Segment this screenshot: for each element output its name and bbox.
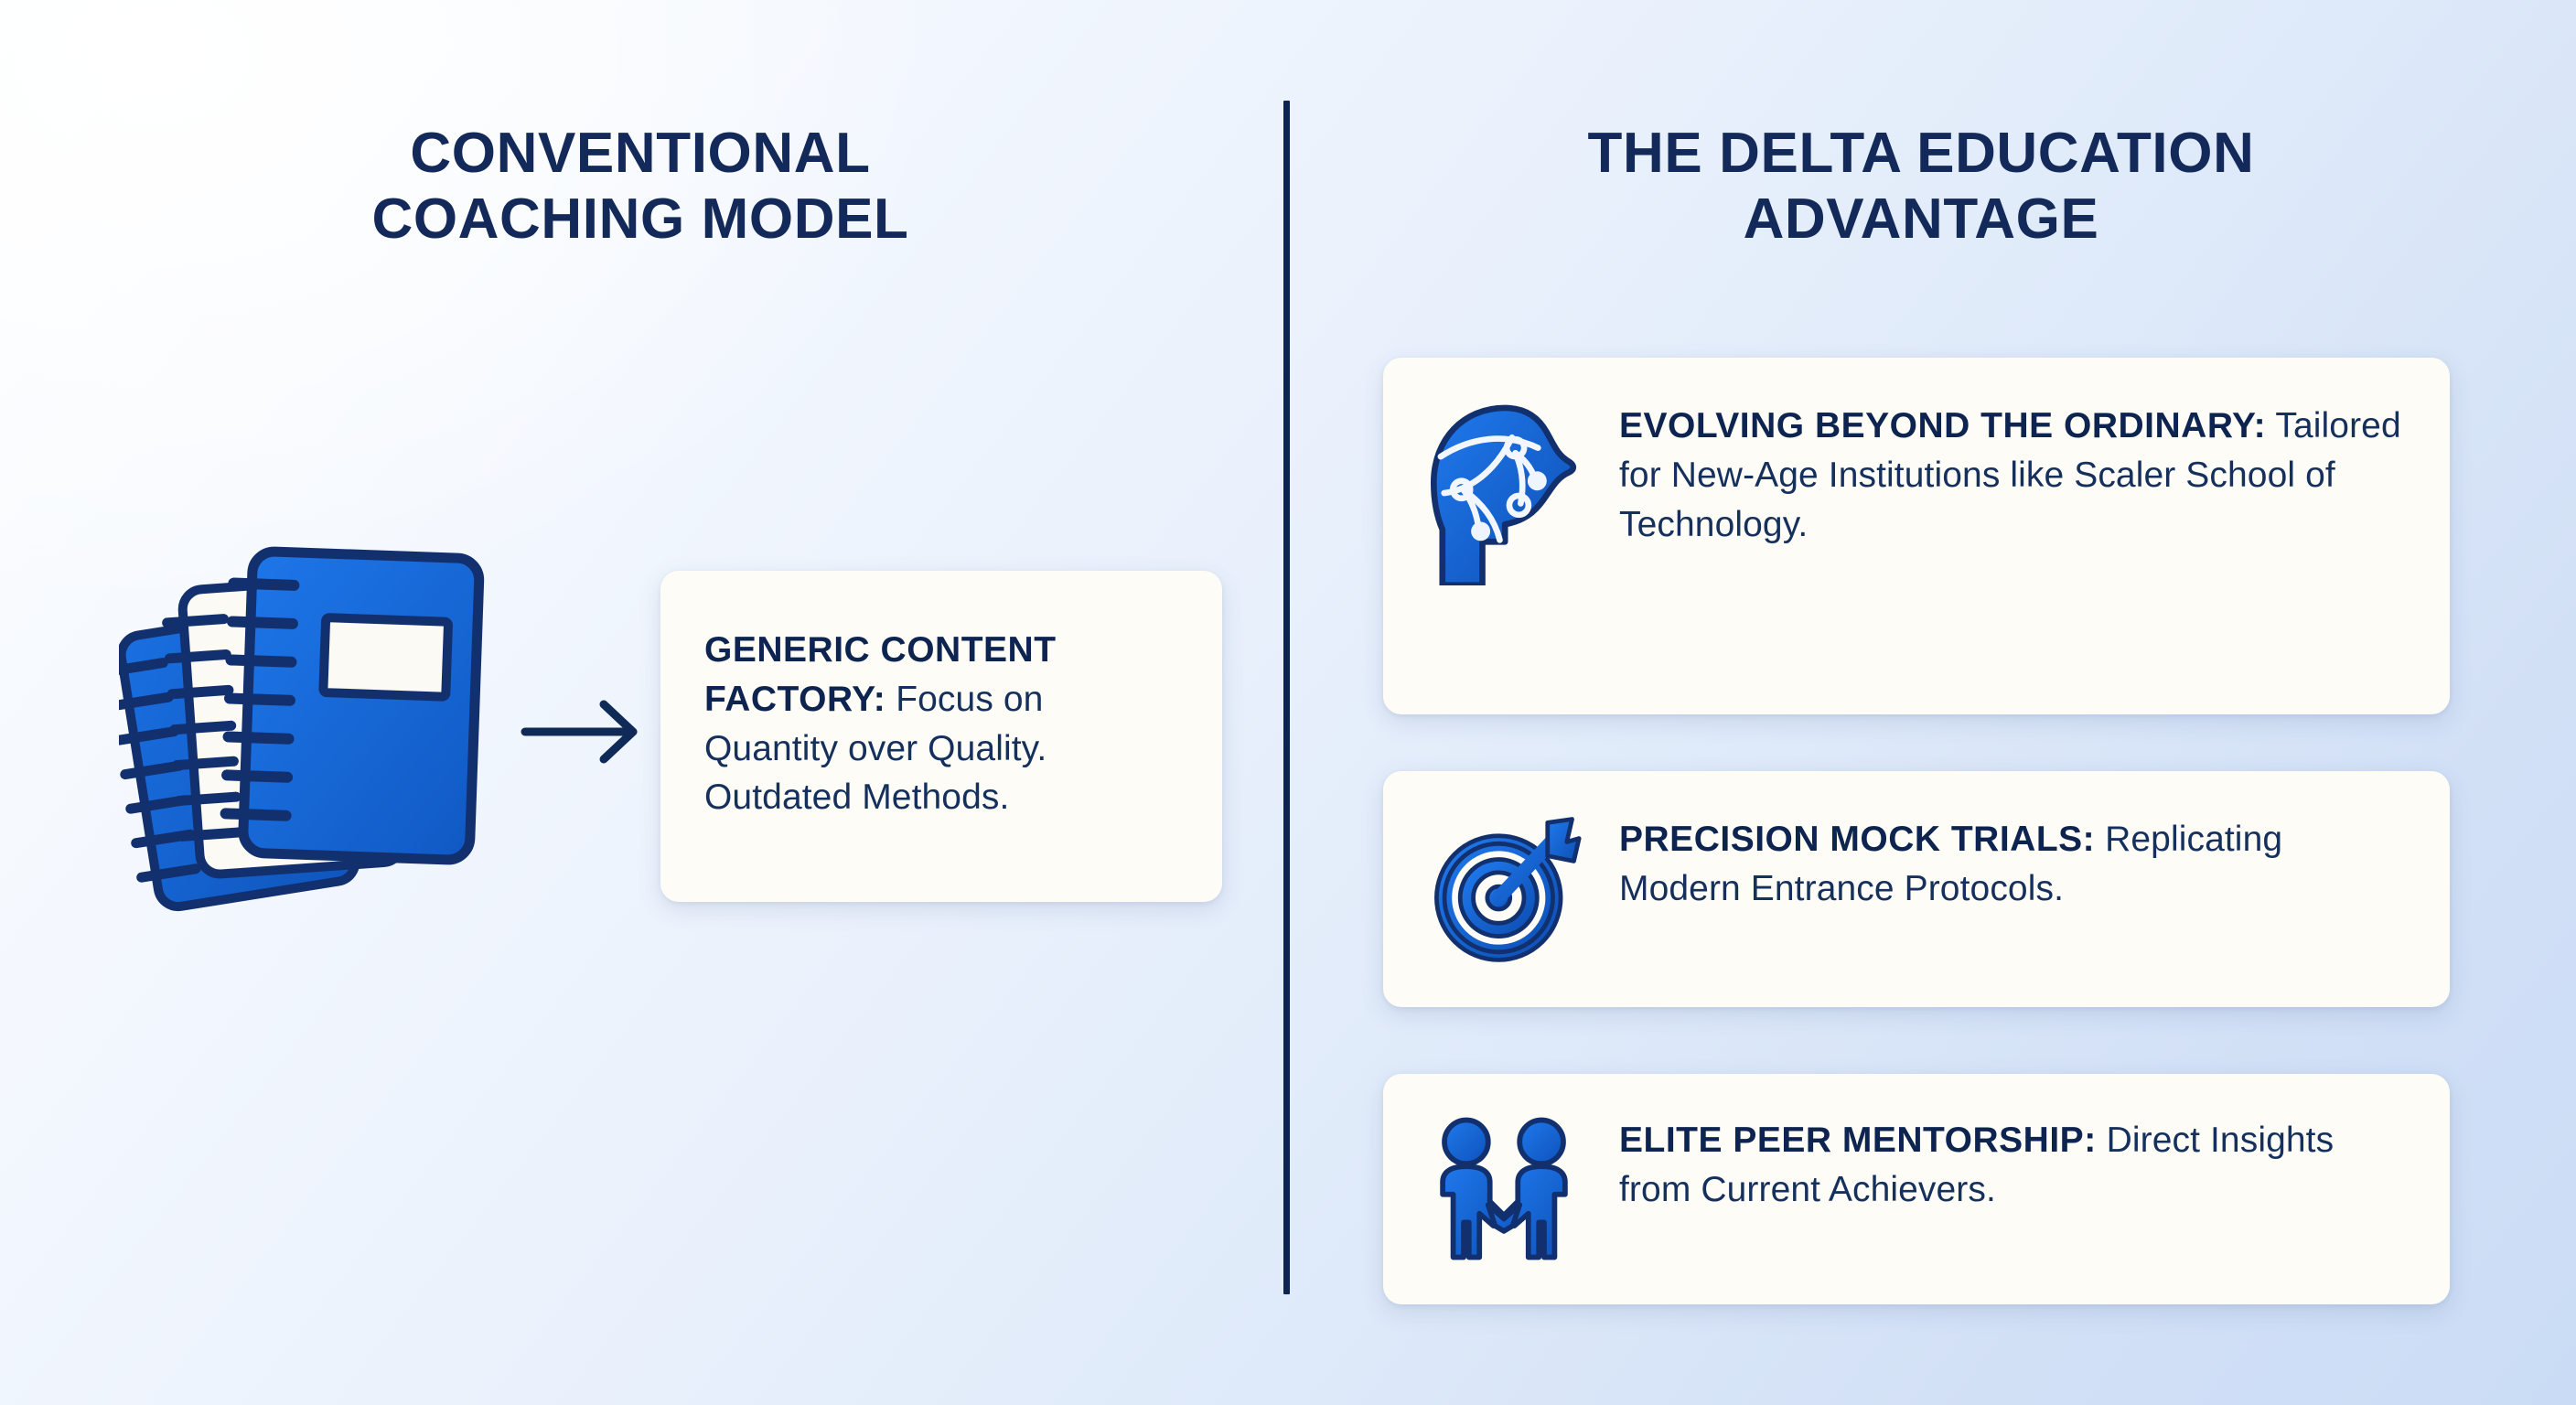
left-title-line-1: CONVENTIONAL xyxy=(55,121,1226,187)
handshake-people-icon xyxy=(1422,1107,1586,1271)
advantage-card-1-lead: EVOLVING BEYOND THE ORDINARY: xyxy=(1619,406,2266,445)
right-title-line-1: THE DELTA EDUCATION xyxy=(1345,121,2497,187)
advantage-card-2-lead: PRECISION MOCK TRIALS: xyxy=(1619,820,2095,859)
advantage-card-precision-mock-trials: PRECISION MOCK TRIALS: Replicating Moder… xyxy=(1383,771,2450,1007)
left-column-title: CONVENTIONAL COACHING MODEL xyxy=(55,121,1226,252)
target-arrow-icon xyxy=(1422,807,1586,971)
advantage-card-3-text: ELITE PEER MENTORSHIP: Direct Insights f… xyxy=(1619,1116,2410,1215)
advantage-card-1-text: EVOLVING BEYOND THE ORDINARY: Tailored f… xyxy=(1619,402,2410,551)
column-divider xyxy=(1283,101,1290,1294)
advantage-card-elite-peer-mentorship: ELITE PEER MENTORSHIP: Direct Insights f… xyxy=(1383,1074,2450,1304)
advantage-card-2-text: PRECISION MOCK TRIALS: Replicating Moder… xyxy=(1619,815,2410,914)
left-title-line-2: COACHING MODEL xyxy=(55,187,1226,252)
stacked-notebooks-icon xyxy=(119,531,503,942)
advantage-card-3-lead: ELITE PEER MENTORSHIP: xyxy=(1619,1121,2097,1160)
comparison-infographic: CONVENTIONAL COACHING MODEL THE DELTA ED… xyxy=(0,0,2576,1405)
conventional-model-card: GENERIC CONTENT FACTORY: Focus on Quanti… xyxy=(660,571,1222,902)
right-column-title: THE DELTA EDUCATION ADVANTAGE xyxy=(1345,121,2497,252)
right-arrow-icon xyxy=(520,688,648,776)
brain-network-head-icon xyxy=(1422,398,1595,590)
right-title-line-2: ADVANTAGE xyxy=(1345,187,2497,252)
advantage-card-evolving-beyond-the-ordinary: EVOLVING BEYOND THE ORDINARY: Tailored f… xyxy=(1383,358,2450,714)
conventional-model-card-text: GENERIC CONTENT FACTORY: Focus on Quanti… xyxy=(704,626,1182,822)
